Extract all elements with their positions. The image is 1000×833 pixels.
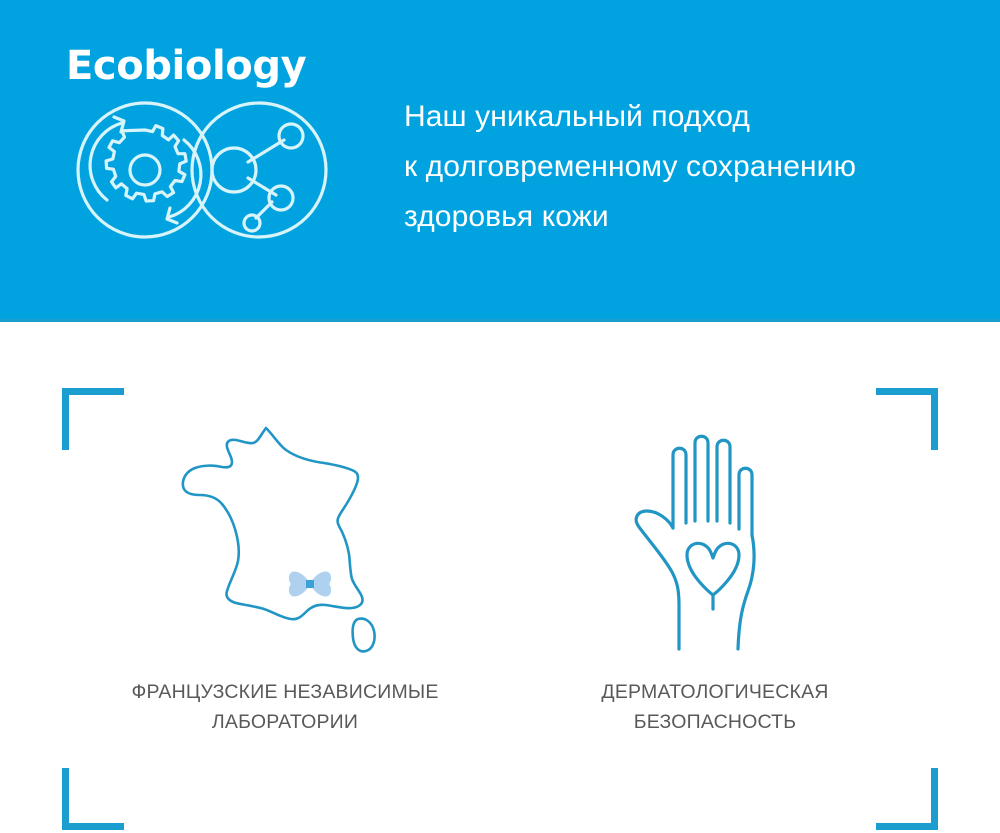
hand-with-heart-icon — [625, 423, 805, 655]
corner-bracket-bottom-right — [876, 768, 938, 830]
caption-line-1: ДЕРМАТОЛОГИЧЕСКАЯ — [601, 681, 828, 703]
feature-dermatological-safety: ДЕРМАТОЛОГИЧЕСКАЯ БЕЗОПАСНОСТЬ — [500, 410, 930, 737]
feature-art-france — [178, 410, 393, 655]
feature-french-labs: ФРАНЦУЗСКИЕ НЕЗАВИСИМЫЕ ЛАБОРАТОРИИ — [70, 410, 500, 737]
headline-line-3: здоровья кожи — [404, 192, 984, 242]
caption-line-2: ЛАБОРАТОРИИ — [212, 711, 358, 733]
corner-bracket-bottom-left — [62, 768, 124, 830]
caption-line-1: ФРАНЦУЗСКИЕ НЕЗАВИСИМЫЕ — [131, 681, 438, 703]
feature-caption-french-labs: ФРАНЦУЗСКИЕ НЕЗАВИСИМЫЕ ЛАБОРАТОРИИ — [131, 677, 438, 737]
brand-block: Ecobiology — [62, 46, 362, 255]
brand-wordmark: Ecobiology — [66, 46, 362, 86]
headline-line-2: к долговременному сохранению — [404, 142, 984, 192]
ecobiology-infographic: Ecobiology — [0, 0, 1000, 833]
ecobiology-infinity-gear-molecule-icon — [62, 90, 362, 255]
feature-art-hand — [625, 410, 805, 655]
header-headline: Наш уникальный подход к долговременному … — [404, 92, 984, 242]
headline-line-1: Наш уникальный подход — [404, 92, 984, 142]
features-row: ФРАНЦУЗСКИЕ НЕЗАВИСИМЫЕ ЛАБОРАТОРИИ — [62, 410, 938, 760]
caption-line-2: БЕЗОПАСНОСТЬ — [634, 711, 797, 733]
france-map-icon — [178, 423, 393, 655]
flower-marker — [288, 572, 330, 597]
feature-caption-dermatological-safety: ДЕРМАТОЛОГИЧЕСКАЯ БЕЗОПАСНОСТЬ — [601, 677, 828, 737]
